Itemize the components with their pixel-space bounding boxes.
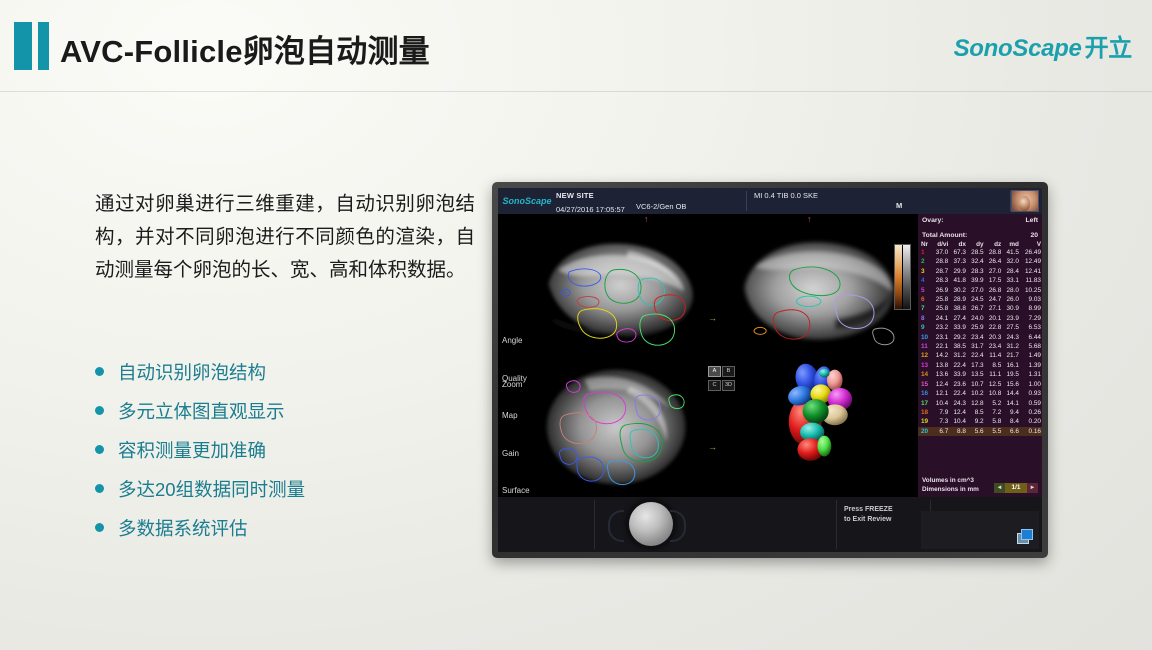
cell-md: 27.5 bbox=[1002, 323, 1020, 332]
ovary-label: Ovary: bbox=[922, 217, 944, 224]
header-divider bbox=[0, 91, 1152, 92]
cell-dy: 22.4 bbox=[967, 351, 985, 360]
sonoscape-logo: SonoScape开立 bbox=[954, 28, 1132, 63]
table-row[interactable]: 1512.423.610.712.515.61.00 bbox=[918, 380, 1042, 389]
cell-nr: 12 bbox=[918, 351, 932, 360]
cell-md: 19.5 bbox=[1002, 370, 1020, 379]
cell-dz: 27.1 bbox=[985, 304, 1003, 313]
cell-dy: 8.5 bbox=[967, 408, 985, 417]
cell-dz: 26.8 bbox=[985, 286, 1003, 295]
cell-dy: 10.2 bbox=[967, 389, 985, 398]
cell-dvi: 25.8 bbox=[932, 304, 950, 313]
grayscale-colorbar[interactable] bbox=[894, 244, 911, 310]
colorbar-gray bbox=[903, 245, 910, 309]
cell-md: 6.6 bbox=[1002, 427, 1020, 436]
cell-dx: 27.4 bbox=[949, 314, 967, 323]
cell-nr: 14 bbox=[918, 370, 932, 379]
cell-md: 15.6 bbox=[1002, 380, 1020, 389]
cell-v: 0.93 bbox=[1020, 389, 1042, 398]
bullet-dot-icon bbox=[95, 367, 104, 376]
cell-dx: 12.4 bbox=[949, 408, 967, 417]
cell-dy: 27.0 bbox=[967, 286, 985, 295]
table-header-row: Nr d/vi dx dy dz md V bbox=[918, 241, 1042, 248]
cell-dvi: 28.8 bbox=[932, 257, 950, 266]
page-navigator[interactable]: ◄ 1/1 ► bbox=[994, 483, 1038, 493]
console-bar: Press FREEZE to Exit Review bbox=[498, 497, 1042, 552]
table-row[interactable]: 137.067.328.528.841.526.49 bbox=[918, 248, 1042, 257]
cell-dvi: 28.3 bbox=[932, 276, 950, 285]
console-divider bbox=[594, 500, 595, 549]
cell-dx: 29.9 bbox=[949, 267, 967, 276]
cell-v: 1.39 bbox=[1020, 361, 1042, 370]
ultrasound-logo: SonoScape bbox=[498, 188, 556, 214]
cell-dx: 38.8 bbox=[949, 304, 967, 313]
list-item: 自动识别卵泡结构 bbox=[95, 352, 495, 391]
cell-dz: 20.3 bbox=[985, 333, 1003, 342]
cell-dvi: 7.3 bbox=[932, 417, 950, 426]
layers-copy-icon[interactable] bbox=[1017, 529, 1032, 543]
bullet-dot-icon bbox=[95, 484, 104, 493]
cell-nr: 5 bbox=[918, 286, 932, 295]
measurement-panel: Ovary: Left Total Amount: 20 Nr d/vi dx … bbox=[918, 214, 1042, 497]
cell-dz: 22.8 bbox=[985, 323, 1003, 332]
follicle-3d-model bbox=[725, 361, 910, 491]
cell-md: 31.2 bbox=[1002, 342, 1020, 351]
cell-dy: 12.8 bbox=[967, 399, 985, 408]
freeze-hint-line2: to Exit Review bbox=[844, 515, 893, 525]
cell-dvi: 22.1 bbox=[932, 342, 950, 351]
cell-v: 1.49 bbox=[1020, 351, 1042, 360]
exam-timestamp: 04/27/2016 17:05:57 bbox=[556, 205, 636, 214]
cell-nr: 9 bbox=[918, 323, 932, 332]
cell-dvi: 6.7 bbox=[932, 427, 950, 436]
mode-indicator: M bbox=[896, 201, 902, 210]
table-body: 137.067.328.528.841.526.49228.837.332.42… bbox=[918, 248, 1042, 436]
trackball[interactable] bbox=[629, 502, 673, 546]
cell-dvi: 14.2 bbox=[932, 351, 950, 360]
cell-nr: 1 bbox=[918, 248, 932, 257]
cell-dz: 12.5 bbox=[985, 380, 1003, 389]
site-name: NEW SITE bbox=[556, 191, 636, 200]
cell-dvi: 25.8 bbox=[932, 295, 950, 304]
brand-latin: SonoScape bbox=[954, 35, 1082, 62]
cell-v: 9.03 bbox=[1020, 295, 1042, 304]
cell-v: 11.83 bbox=[1020, 276, 1042, 285]
table-row[interactable]: 923.233.925.922.827.56.53 bbox=[918, 323, 1042, 332]
cell-md: 21.7 bbox=[1002, 351, 1020, 360]
cell-dvi: 26.9 bbox=[932, 286, 950, 295]
quadrant-selector[interactable]: A B C 3D bbox=[708, 366, 733, 391]
cell-dvi: 13.8 bbox=[932, 361, 950, 370]
table-row[interactable]: 625.828.924.524.726.09.03 bbox=[918, 295, 1042, 304]
bullet-dot-icon bbox=[95, 406, 104, 415]
page-indicator: 1/1 bbox=[1005, 483, 1027, 493]
cell-dz: 17.5 bbox=[985, 276, 1003, 285]
total-amount-value: 20 bbox=[1030, 232, 1038, 239]
quadrant-button-c[interactable]: C bbox=[708, 380, 721, 391]
cell-dz: 26.4 bbox=[985, 257, 1003, 266]
cell-dz: 7.2 bbox=[985, 408, 1003, 417]
cell-md: 33.1 bbox=[1002, 276, 1020, 285]
table-row[interactable]: 725.838.826.727.130.98.99 bbox=[918, 304, 1042, 313]
accent-bars bbox=[14, 22, 49, 70]
cell-dvi: 28.7 bbox=[932, 267, 950, 276]
list-item: 多达20组数据同时测量 bbox=[95, 469, 495, 508]
quadrant-c-image bbox=[523, 361, 716, 491]
cell-dz: 23.4 bbox=[985, 342, 1003, 351]
freeze-hint: Press FREEZE to Exit Review bbox=[844, 505, 893, 525]
cell-dvi: 24.1 bbox=[932, 314, 950, 323]
quadrant-3d-render[interactable] bbox=[725, 361, 910, 491]
total-amount-label: Total Amount: bbox=[922, 232, 967, 239]
table-row[interactable]: 1122.138.531.723.431.25.68 bbox=[918, 342, 1042, 351]
cell-nr: 19 bbox=[918, 417, 932, 426]
cell-nr: 3 bbox=[918, 267, 932, 276]
cell-md: 16.1 bbox=[1002, 361, 1020, 370]
table-row[interactable]: 1313.822.417.38.516.11.39 bbox=[918, 361, 1042, 370]
cell-v: 0.26 bbox=[1020, 408, 1042, 417]
feature-bullet-list: 自动识别卵泡结构 多元立体图直观显示 容积测量更加准确 多达20组数据同时测量 … bbox=[95, 352, 495, 547]
cell-dy: 32.4 bbox=[967, 257, 985, 266]
cell-v: 26.49 bbox=[1020, 248, 1042, 257]
cell-dy: 9.2 bbox=[967, 417, 985, 426]
quadrant-c-axial[interactable] bbox=[523, 361, 716, 491]
cell-dvi: 37.0 bbox=[932, 248, 950, 257]
quadrant-b-image bbox=[725, 225, 910, 355]
table-row[interactable]: 206.78.85.65.56.60.16 bbox=[918, 427, 1042, 436]
cell-dx: 38.5 bbox=[949, 342, 967, 351]
table-row[interactable]: 187.912.48.57.29.40.26 bbox=[918, 408, 1042, 417]
total-amount-row: Total Amount: 20 bbox=[918, 224, 1042, 239]
column-header-nr: Nr bbox=[918, 241, 932, 248]
cell-dx: 30.2 bbox=[949, 286, 967, 295]
site-info: NEW SITE 04/27/2016 17:05:57 bbox=[556, 188, 636, 214]
cell-dy: 13.5 bbox=[967, 370, 985, 379]
cell-dx: 24.3 bbox=[949, 399, 967, 408]
quadrant-button-a[interactable]: A bbox=[708, 366, 721, 377]
cell-v: 8.99 bbox=[1020, 304, 1042, 313]
table-row[interactable]: 824.127.424.020.123.97.29 bbox=[918, 314, 1042, 323]
cell-v: 12.49 bbox=[1020, 257, 1042, 266]
cell-md: 26.0 bbox=[1002, 295, 1020, 304]
cell-dy: 31.7 bbox=[967, 342, 985, 351]
cell-dz: 11.4 bbox=[985, 351, 1003, 360]
ovary-value: Left bbox=[1026, 217, 1038, 224]
cell-dvi: 12.1 bbox=[932, 389, 950, 398]
cell-dz: 8.5 bbox=[985, 361, 1003, 370]
quadrant-button-3d[interactable]: 3D bbox=[722, 380, 735, 391]
cell-dz: 20.1 bbox=[985, 314, 1003, 323]
cell-dx: 8.8 bbox=[949, 427, 967, 436]
description-block: 通过对卵巢进行三维重建，自动识别卵泡结构，并对不同卵泡进行不同颜色的渲染，自动测… bbox=[95, 188, 475, 287]
cell-dy: 26.7 bbox=[967, 304, 985, 313]
table-row[interactable]: 328.729.928.327.028.412.41 bbox=[918, 267, 1042, 276]
cell-dx: 37.3 bbox=[949, 257, 967, 266]
cell-dy: 5.6 bbox=[967, 427, 985, 436]
table-row[interactable]: 197.310.49.25.88.40.20 bbox=[918, 417, 1042, 426]
cell-dx: 23.6 bbox=[949, 380, 967, 389]
cell-dz: 28.8 bbox=[985, 248, 1003, 257]
follicle-measurement-table[interactable]: Nr d/vi dx dy dz md V 137.067.328.528.84… bbox=[918, 241, 1042, 436]
cell-md: 14.1 bbox=[1002, 399, 1020, 408]
list-item-label: 多数据系统评估 bbox=[118, 515, 248, 541]
cell-dz: 24.7 bbox=[985, 295, 1003, 304]
cell-dy: 24.5 bbox=[967, 295, 985, 304]
cell-nr: 20 bbox=[918, 427, 932, 436]
orientation-marker-up-icon: ↑ bbox=[644, 215, 649, 224]
table-row[interactable]: 1612.122.410.210.814.40.93 bbox=[918, 389, 1042, 398]
table-row[interactable]: 526.930.227.026.828.010.25 bbox=[918, 286, 1042, 295]
brand-chinese: 开立 bbox=[1085, 35, 1132, 62]
column-header-dvi: d/vi bbox=[932, 241, 950, 248]
cell-md: 28.4 bbox=[1002, 267, 1020, 276]
cell-md: 41.5 bbox=[1002, 248, 1020, 257]
probe-preset: VC6-2/Gen OB bbox=[636, 188, 746, 214]
cell-dx: 28.9 bbox=[949, 295, 967, 304]
table-row[interactable]: 228.837.332.426.432.012.49 bbox=[918, 257, 1042, 266]
cell-dy: 28.5 bbox=[967, 248, 985, 257]
cell-dz: 11.1 bbox=[985, 370, 1003, 379]
cell-v: 1.00 bbox=[1020, 380, 1042, 389]
cell-v: 12.41 bbox=[1020, 267, 1042, 276]
cell-dy: 23.4 bbox=[967, 333, 985, 342]
list-item: 多数据系统评估 bbox=[95, 508, 495, 547]
list-item: 容积测量更加准确 bbox=[95, 430, 495, 469]
cell-nr: 11 bbox=[918, 342, 932, 351]
image-viewport[interactable]: Angle55 QualityM Map4 Gain23 Surface Zoo… bbox=[498, 214, 918, 497]
quadrant-a-sagittal[interactable] bbox=[523, 225, 716, 355]
cell-dvi: 7.9 bbox=[932, 408, 950, 417]
cell-dvi: 23.1 bbox=[932, 333, 950, 342]
quadrant-b-coronal[interactable] bbox=[725, 225, 910, 355]
accent-bar-wide bbox=[14, 22, 32, 70]
cell-v: 6.44 bbox=[1020, 333, 1042, 342]
cell-md: 14.4 bbox=[1002, 389, 1020, 398]
bullet-dot-icon bbox=[95, 523, 104, 532]
cell-dx: 67.3 bbox=[949, 248, 967, 257]
prev-page-button[interactable]: ◄ bbox=[994, 483, 1005, 493]
table-row[interactable]: 1023.129.223.420.324.36.44 bbox=[918, 333, 1042, 342]
cell-dz: 27.0 bbox=[985, 267, 1003, 276]
cell-nr: 6 bbox=[918, 295, 932, 304]
column-header-v: V bbox=[1020, 241, 1042, 248]
cell-v: 0.16 bbox=[1020, 427, 1042, 436]
cell-dz: 10.8 bbox=[985, 389, 1003, 398]
cell-dx: 41.8 bbox=[949, 276, 967, 285]
cell-dx: 29.2 bbox=[949, 333, 967, 342]
cell-dy: 25.9 bbox=[967, 323, 985, 332]
cell-v: 0.59 bbox=[1020, 399, 1042, 408]
cell-dx: 33.9 bbox=[949, 323, 967, 332]
cell-dy: 17.3 bbox=[967, 361, 985, 370]
table-row[interactable]: 428.341.839.917.533.111.83 bbox=[918, 276, 1042, 285]
page-title: AVC-Follicle卵泡自动测量 bbox=[60, 26, 430, 71]
acoustic-output: MI 0.4 TIB 0.0 SKE bbox=[747, 188, 1010, 214]
cell-nr: 18 bbox=[918, 408, 932, 417]
trackball-control[interactable] bbox=[602, 501, 692, 549]
colorbar-warm bbox=[895, 245, 902, 309]
cell-v: 6.53 bbox=[1020, 323, 1042, 332]
cell-dx: 10.4 bbox=[949, 417, 967, 426]
ultrasound-monitor: SonoScape NEW SITE 04/27/2016 17:05:57 V… bbox=[492, 182, 1048, 558]
cell-dy: 28.3 bbox=[967, 267, 985, 276]
cell-nr: 10 bbox=[918, 333, 932, 342]
description-paragraph: 通过对卵巢进行三维重建，自动识别卵泡结构，并对不同卵泡进行不同颜色的渲染，自动测… bbox=[95, 188, 475, 287]
freeze-hint-line1: Press FREEZE bbox=[844, 505, 893, 515]
layers-front-square bbox=[1021, 529, 1033, 540]
slide-header: AVC-Follicle卵泡自动测量 SonoScape开立 bbox=[0, 0, 1152, 92]
cell-nr: 2 bbox=[918, 257, 932, 266]
cell-dvi: 10.4 bbox=[932, 399, 950, 408]
cell-md: 24.3 bbox=[1002, 333, 1020, 342]
cell-v: 0.20 bbox=[1020, 417, 1042, 426]
bullet-dot-icon bbox=[95, 445, 104, 454]
cell-nr: 15 bbox=[918, 380, 932, 389]
cell-dz: 5.5 bbox=[985, 427, 1003, 436]
table-row[interactable]: 1710.424.312.85.214.10.59 bbox=[918, 399, 1042, 408]
cell-nr: 16 bbox=[918, 389, 932, 398]
trackball-right-wing-icon bbox=[670, 510, 686, 542]
cell-md: 8.4 bbox=[1002, 417, 1020, 426]
console-divider bbox=[836, 500, 837, 549]
cell-dx: 22.4 bbox=[949, 361, 967, 370]
cell-nr: 8 bbox=[918, 314, 932, 323]
panel-footer: Volumes in cm^3 Dimensions in mm ◄ 1/1 ► bbox=[918, 476, 1042, 494]
column-header-dz: dz bbox=[985, 241, 1003, 248]
cell-md: 23.9 bbox=[1002, 314, 1020, 323]
quadrant-a-image bbox=[523, 225, 716, 355]
cell-dz: 5.2 bbox=[985, 399, 1003, 408]
quadrant-button-b[interactable]: B bbox=[722, 366, 735, 377]
list-item-label: 多达20组数据同时测量 bbox=[118, 476, 305, 502]
list-item-label: 自动识别卵泡结构 bbox=[118, 359, 266, 385]
patient-thumbnail[interactable] bbox=[1011, 190, 1039, 212]
cell-dx: 31.2 bbox=[949, 351, 967, 360]
column-header-md: md bbox=[1002, 241, 1020, 248]
table-row[interactable]: 1413.633.913.511.119.51.31 bbox=[918, 370, 1042, 379]
cell-md: 30.9 bbox=[1002, 304, 1020, 313]
cell-dz: 5.8 bbox=[985, 417, 1003, 426]
list-item-label: 多元立体图直观显示 bbox=[118, 398, 285, 424]
cell-md: 32.0 bbox=[1002, 257, 1020, 266]
ovary-header: Ovary: Left bbox=[918, 214, 1042, 224]
cell-v: 1.31 bbox=[1020, 370, 1042, 379]
cell-dvi: 23.2 bbox=[932, 323, 950, 332]
cell-dy: 24.0 bbox=[967, 314, 985, 323]
cell-dx: 22.4 bbox=[949, 389, 967, 398]
ultrasound-status-bar: SonoScape NEW SITE 04/27/2016 17:05:57 V… bbox=[498, 188, 1042, 214]
column-header-dx: dx bbox=[949, 241, 967, 248]
cell-dvi: 13.6 bbox=[932, 370, 950, 379]
cell-nr: 13 bbox=[918, 361, 932, 370]
cell-nr: 4 bbox=[918, 276, 932, 285]
orientation-marker-up-icon: ↑ bbox=[807, 215, 812, 224]
cell-nr: 7 bbox=[918, 304, 932, 313]
cell-nr: 17 bbox=[918, 399, 932, 408]
cell-dy: 39.9 bbox=[967, 276, 985, 285]
cell-v: 5.68 bbox=[1020, 342, 1042, 351]
cell-v: 10.25 bbox=[1020, 286, 1042, 295]
column-header-dy: dy bbox=[967, 241, 985, 248]
cell-v: 7.29 bbox=[1020, 314, 1042, 323]
ultrasound-screen: SonoScape NEW SITE 04/27/2016 17:05:57 V… bbox=[498, 188, 1042, 552]
accent-bar-thin bbox=[38, 22, 49, 70]
next-page-button[interactable]: ► bbox=[1027, 483, 1038, 493]
cell-md: 9.4 bbox=[1002, 408, 1020, 417]
cell-dvi: 12.4 bbox=[932, 380, 950, 389]
cell-dx: 33.9 bbox=[949, 370, 967, 379]
trackball-left-wing-icon bbox=[608, 510, 624, 542]
table-row[interactable]: 1214.231.222.411.421.71.49 bbox=[918, 351, 1042, 360]
list-item: 多元立体图直观显示 bbox=[95, 391, 495, 430]
list-item-label: 容积测量更加准确 bbox=[118, 437, 266, 463]
cell-md: 28.0 bbox=[1002, 286, 1020, 295]
cell-dy: 10.7 bbox=[967, 380, 985, 389]
